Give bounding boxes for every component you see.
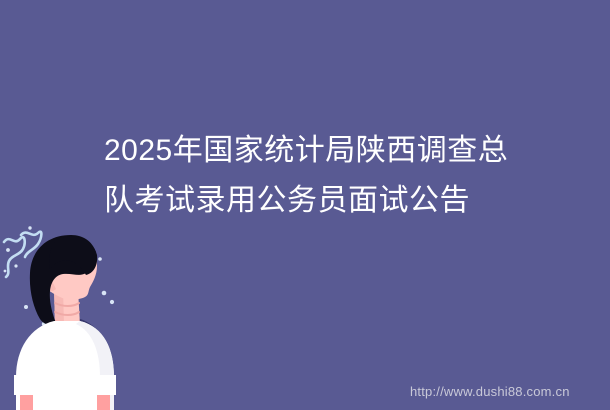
title-line-1: 2025年国家统计局陕西调查总: [104, 126, 544, 176]
person-illustration: [0, 235, 185, 410]
left-sleeve-hem: [14, 375, 38, 395]
article-cover-banner: 2025年国家统计局陕西调查总 队考试录用公务员面试公告 http://www.…: [0, 0, 610, 410]
right-sleeve-hem: [92, 375, 116, 395]
title-line-2: 队考试录用公务员面试公告: [104, 176, 544, 226]
site-watermark-url: http://www.dushi88.com.cn: [410, 384, 570, 400]
page-title: 2025年国家统计局陕西调查总 队考试录用公务员面试公告: [104, 126, 544, 226]
